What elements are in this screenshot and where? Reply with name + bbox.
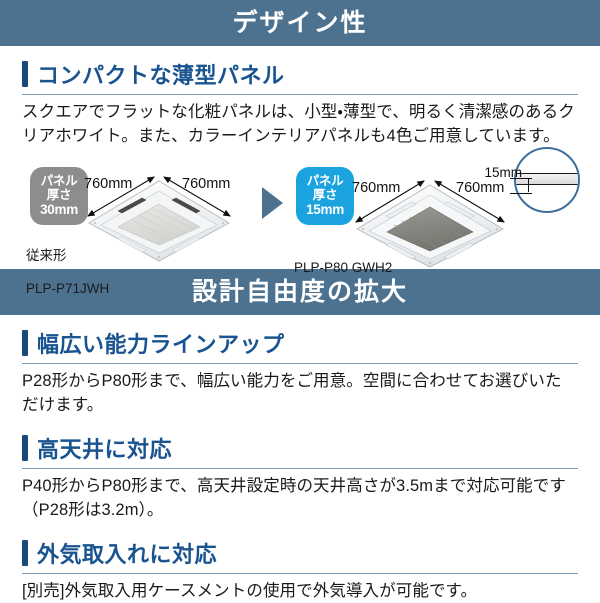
panel-thickness-badge-conventional: パネル 厚さ 30mm (30, 167, 88, 225)
dimension-right-conventional: 760mm (182, 176, 230, 192)
dimension-right-new: 760mm (456, 180, 504, 196)
badge-line-1: パネル (307, 174, 344, 188)
badge-line-2: 厚さ (47, 188, 71, 202)
model-type-conventional: 従来形 (26, 248, 109, 265)
subsection-compact-panel: コンパクトな薄型パネル スクエアでフラットな化粧パネルは、小型・薄型で、明るく清… (0, 58, 600, 149)
subsection-title: 高天井に対応 (37, 432, 172, 464)
heading-divider (22, 573, 578, 574)
section-banner-design: デザイン性 (0, 0, 600, 46)
panel-thickness-comparison: パネル 厚さ 30mm (0, 157, 600, 269)
subsection-title: 外気取入れに対応 (37, 537, 217, 569)
subsection-heading: コンパクトな薄型パネル (22, 58, 578, 90)
subsection-fresh-air-intake: 外気取入れに対応 [別売]外気取入用ケースメントの使用で外気導入が可能です。 (0, 537, 600, 603)
model-number-new: PLP-P80 GWH2 (294, 260, 392, 277)
heading-accent-bar (22, 540, 28, 566)
thickness-dimension-arrow (528, 178, 529, 192)
model-label-new: PLP-P80 GWH2 (294, 243, 392, 294)
badge-line-3: 30mm (40, 202, 78, 217)
model-label-conventional: 従来形 PLP-P71JWH (26, 231, 109, 315)
subsection-title: 幅広い能力ラインアップ (37, 327, 285, 359)
heading-accent-bar (22, 61, 28, 87)
subsection-heading: 幅広い能力ラインアップ (22, 327, 578, 359)
dimension-left-new: 760mm (352, 180, 400, 196)
model-number-conventional: PLP-P71JWH (26, 281, 109, 298)
dimension-left-conventional: 760mm (84, 176, 132, 192)
subsection-high-ceiling: 高天井に対応 P40形からP80形まで、高天井設定時の天井高さが3.5mまで対応… (0, 432, 600, 523)
panel-thickness-badge-new: パネル 厚さ 15mm (296, 167, 354, 225)
subsection-capacity-lineup: 幅広い能力ラインアップ P28形からP80形まで、幅広い能力をご用意。空間に合わ… (0, 327, 600, 418)
transition-arrow-icon (262, 187, 283, 219)
subsection-body: [別売]外気取入用ケースメントの使用で外気導入が可能です。 (22, 580, 578, 603)
heading-divider (22, 94, 578, 95)
brochure-page: デザイン性 コンパクトな薄型パネル スクエアでフラットな化粧パネルは、小型・薄型… (0, 0, 600, 600)
callout-thickness-label: 15mm (484, 165, 522, 180)
badge-line-3: 15mm (306, 202, 344, 217)
subsection-heading: 高天井に対応 (22, 432, 578, 464)
badge-line-1: パネル (41, 174, 78, 188)
subsection-title: コンパクトな薄型パネル (37, 58, 285, 90)
subsection-body: スクエアでフラットな化粧パネルは、小型・薄型で、明るく清潔感のあるクリアホワイト… (22, 101, 578, 149)
heading-accent-bar (22, 435, 28, 461)
subsection-heading: 外気取入れに対応 (22, 537, 578, 569)
badge-line-2: 厚さ (313, 188, 337, 202)
subsection-body: P28形からP80形まで、幅広い能力をご用意。空間に合わせてお選びいただけます。 (22, 370, 578, 418)
heading-divider (22, 468, 578, 469)
subsection-body: P40形からP80形まで、高天井設定時の天井高さが3.5mまで対応可能です（P2… (22, 475, 578, 523)
heading-divider (22, 363, 578, 364)
heading-accent-bar (22, 330, 28, 356)
